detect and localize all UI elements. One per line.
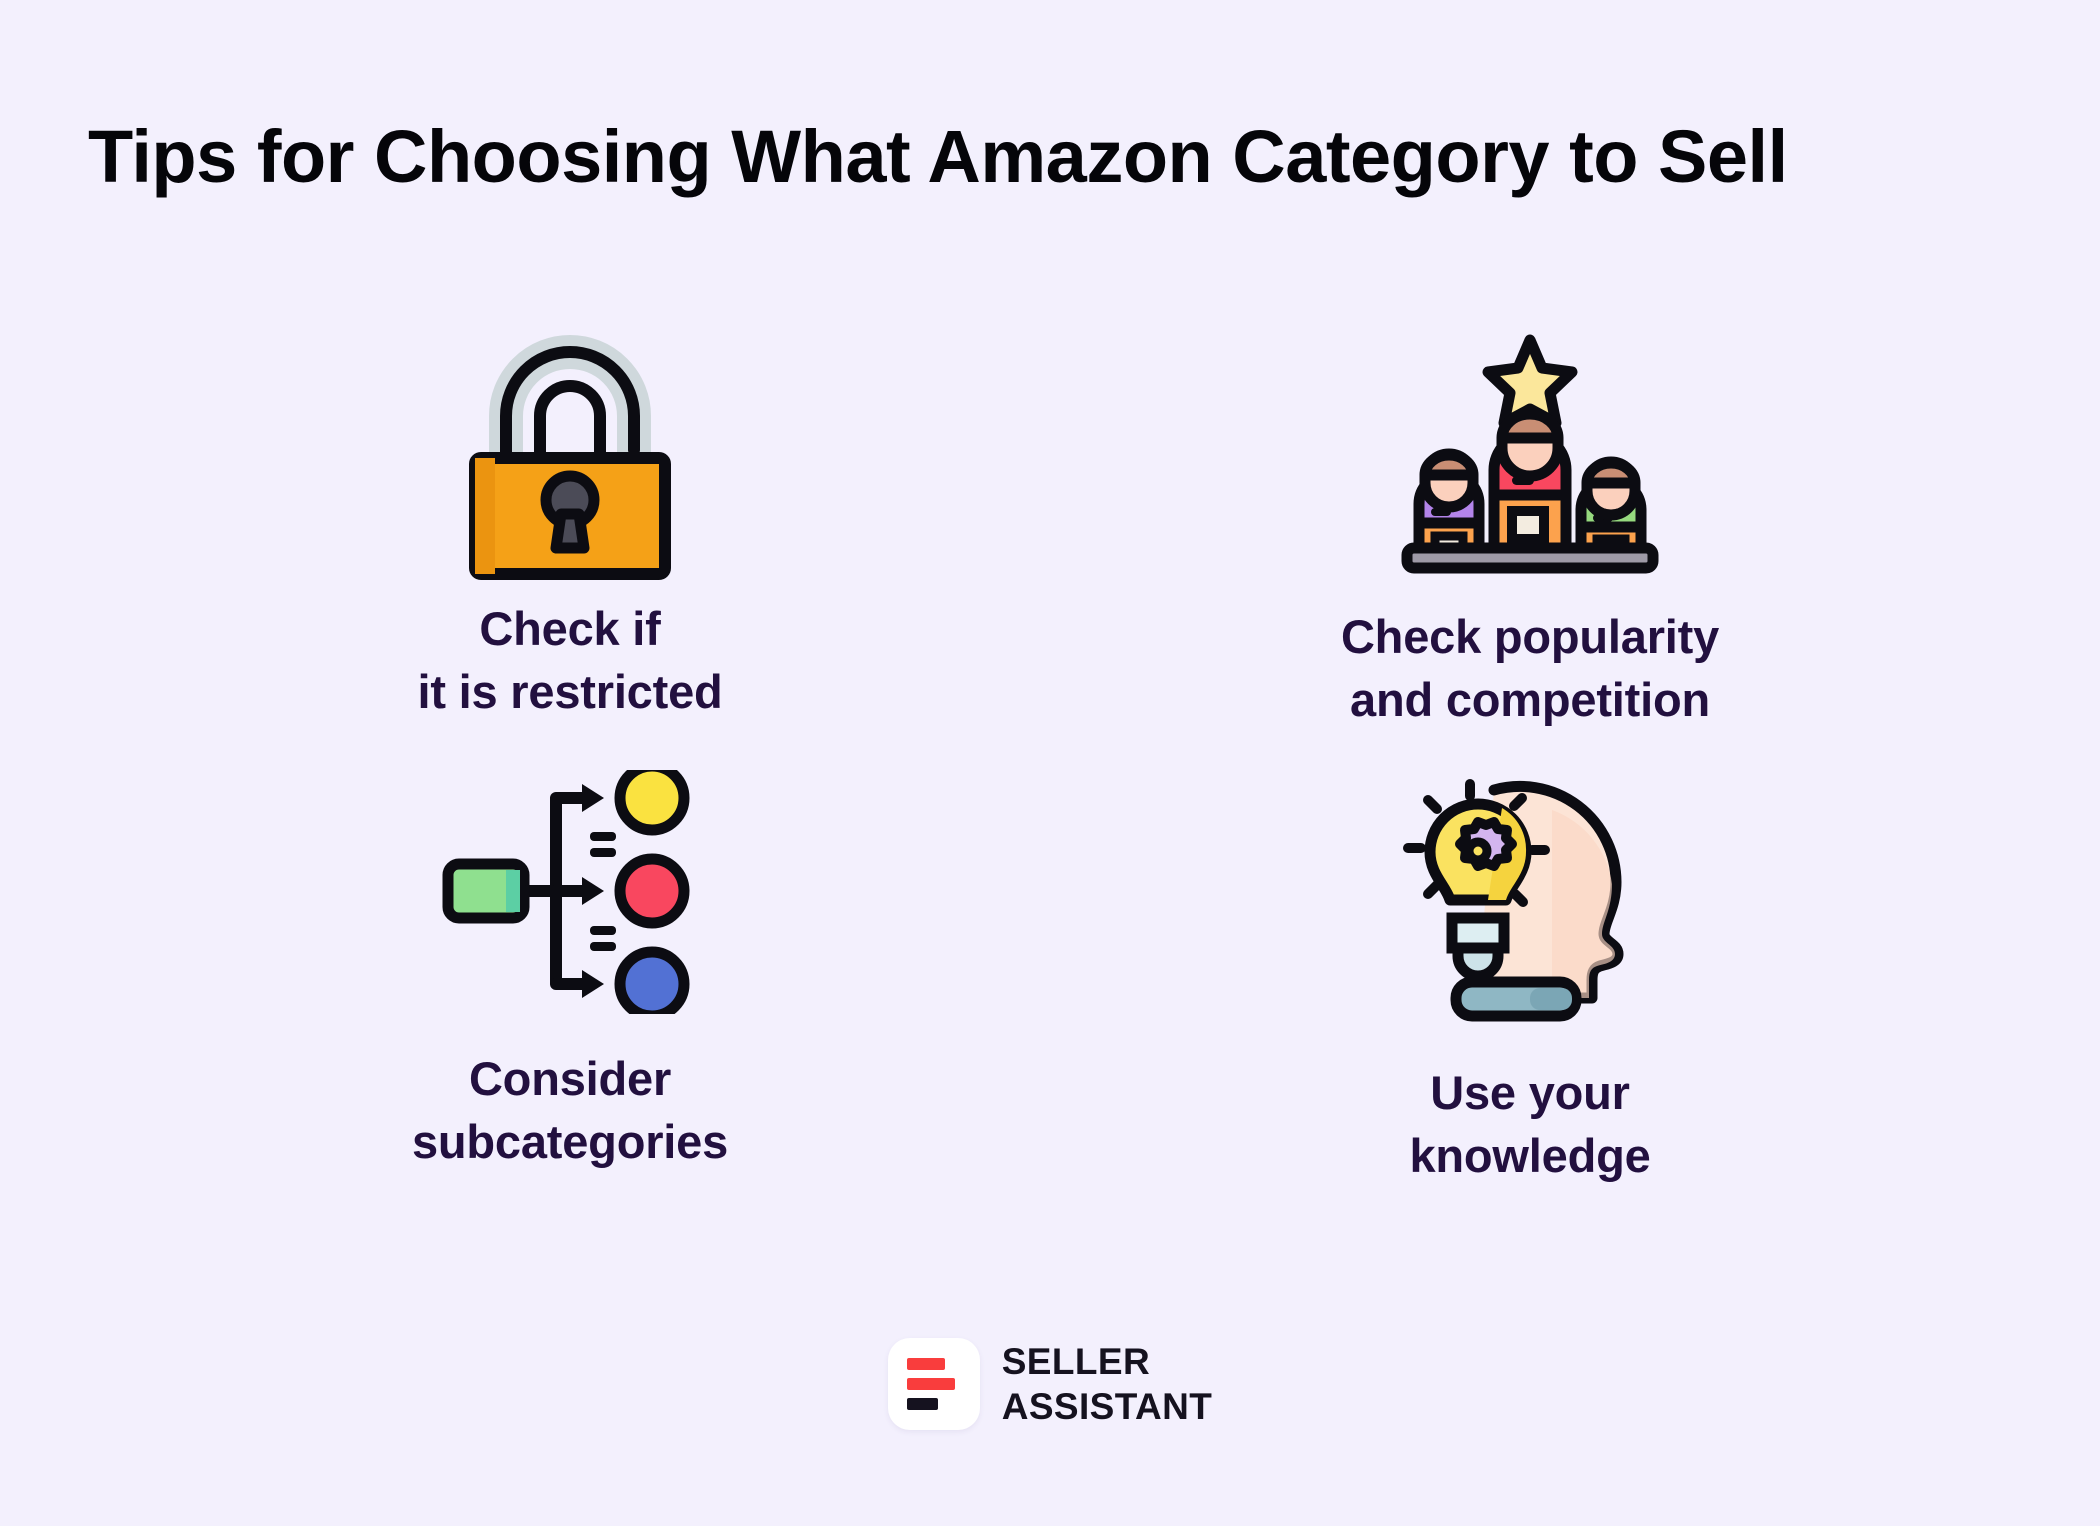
tip-card-knowledge: Use your knowledge	[1110, 770, 1950, 1150]
logo-bar-black-bottom	[907, 1398, 938, 1410]
seller-assistant-logo-mark	[888, 1338, 980, 1430]
tip-label-restricted: Check if it is restricted	[417, 598, 722, 723]
logo-bar-red-top	[907, 1358, 945, 1370]
tip-card-restricted: Check if it is restricted	[150, 330, 990, 710]
tip-card-subcategories: Consider subcategories	[150, 770, 990, 1150]
podium-people-icon	[1399, 330, 1661, 580]
tip-label-popularity: Check popularity and competition	[1341, 606, 1719, 731]
tip-label-subcategories: Consider subcategories	[412, 1048, 728, 1173]
subcategories-branch-icon	[442, 770, 698, 1014]
tip-label-knowledge: Use your knowledge	[1409, 1062, 1650, 1187]
infographic-canvas: Tips for Choosing What Amazon Category t…	[0, 0, 2100, 1526]
brand-wordmark: SELLER ASSISTANT	[1002, 1339, 1213, 1429]
logo-bar-red-middle	[907, 1378, 955, 1390]
footer-brand-logo: SELLER ASSISTANT	[0, 1338, 2100, 1430]
padlock-icon	[461, 330, 679, 580]
head-lightbulb-icon	[1402, 770, 1658, 1028]
tip-card-popularity: Check popularity and competition	[1110, 330, 1950, 710]
page-title: Tips for Choosing What Amazon Category t…	[88, 118, 2018, 196]
tips-grid: Check if it is restricted	[150, 330, 1950, 1150]
